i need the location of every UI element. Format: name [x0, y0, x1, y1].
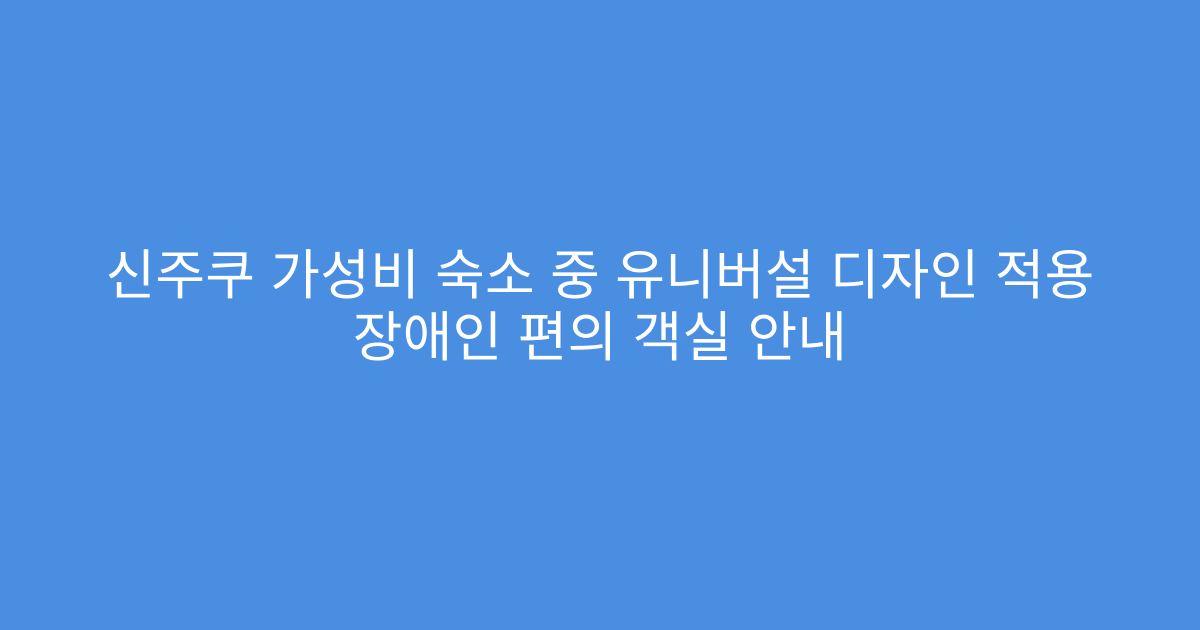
page-title: 신주쿠 가성비 숙소 중 유니버설 디자인 적용 장애인 편의 객실 안내: [0, 245, 1200, 369]
share-card: 신주쿠 가성비 숙소 중 유니버설 디자인 적용 장애인 편의 객실 안내: [0, 0, 1200, 630]
title-line-2: 장애인 편의 객실 안내: [60, 307, 1140, 369]
title-line-1: 신주쿠 가성비 숙소 중 유니버설 디자인 적용: [60, 245, 1140, 307]
